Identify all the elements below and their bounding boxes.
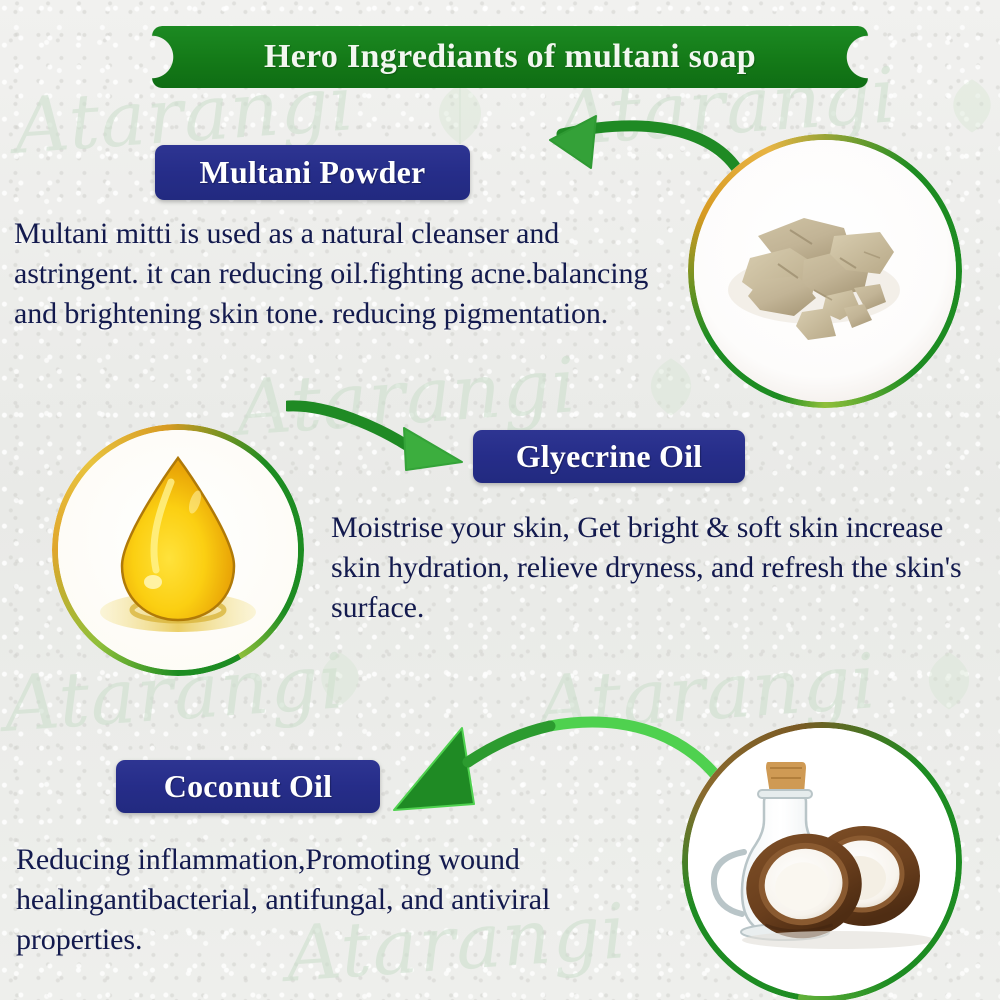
photo-inner [688, 728, 956, 996]
section-heading-label: Coconut Oil [164, 768, 332, 805]
photo-inner [58, 430, 298, 670]
infographic-page: Atarangi Atarangi Atarangi Atarangi Atar… [0, 0, 1000, 1000]
photo-inner [694, 140, 956, 402]
watermark-leaf-icon [628, 352, 714, 420]
section-body-coconut-oil: Reducing inflammation,Promoting wound he… [16, 840, 676, 960]
glycerine-oil-photo [52, 424, 304, 676]
page-title: Hero Ingrediants of multani soap [264, 38, 756, 76]
section-heading-label: Multani Powder [200, 154, 426, 191]
coconut-oil-photo [682, 722, 962, 1000]
coconut-oil-illustration [688, 728, 956, 996]
watermark-leaf-icon [932, 72, 1000, 138]
section-heading-multani-powder: Multani Powder [155, 145, 470, 200]
section-body-glycerine-oil: Moistrise your skin, Get bright & soft s… [331, 508, 991, 628]
section-heading-glycerine-oil: Glyecrine Oil [473, 430, 745, 483]
section-heading-label: Glyecrine Oil [516, 438, 703, 475]
section-body-multani-powder: Multani mitti is used as a natural clean… [14, 214, 674, 334]
oil-droplet-illustration [58, 430, 298, 670]
page-title-banner: Hero Ingrediants of multani soap [152, 26, 868, 88]
multani-powder-photo [688, 134, 962, 408]
section-heading-coconut-oil: Coconut Oil [116, 760, 380, 813]
watermark-leaf-icon [906, 646, 992, 714]
watermark-leaf-icon [415, 78, 505, 148]
watermark-leaf-icon [300, 646, 380, 710]
multani-clay-illustration [694, 140, 956, 402]
arrow-to-multani-powder [450, 92, 750, 202]
